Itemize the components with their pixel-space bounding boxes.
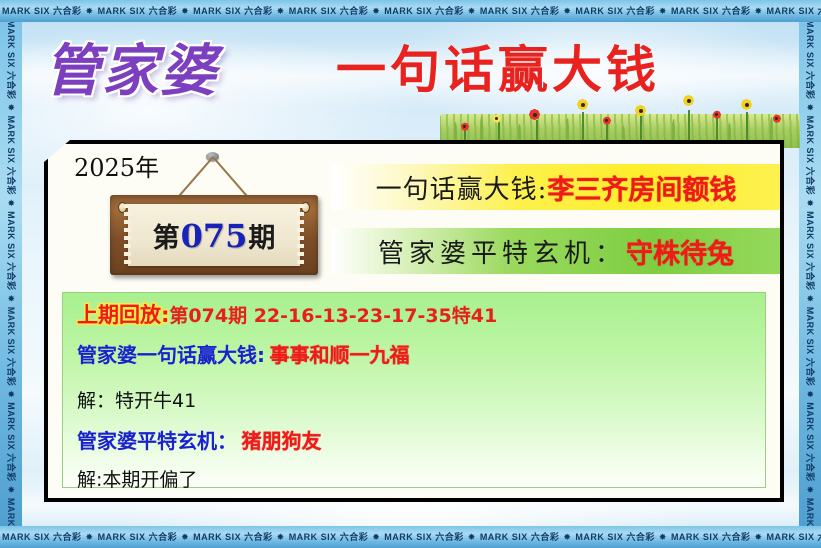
flower-icon — [602, 116, 611, 125]
issue-number: 第075期 — [153, 216, 276, 255]
band-green-answer: 守株待兔 — [626, 232, 734, 271]
hanging-sign: 第075期 — [106, 152, 322, 282]
explain-row-2: 解:本期开偏了 — [77, 471, 751, 490]
replay-numbers: 22-16-13-23-17-35 — [254, 305, 452, 327]
flower-icon — [740, 98, 753, 111]
marquee-run-right: MARK SIX 六合彩✸MARK SIX 六合彩✸MARK SIX 六合彩✸M… — [799, 22, 821, 526]
issue-prefix: 第 — [153, 223, 180, 254]
flower-icon — [772, 114, 781, 123]
marquee-run-bottom: MARK SIX 六合彩✸MARK SIX 六合彩✸MARK SIX 六合彩✸M… — [0, 526, 821, 548]
band-green-label: 管家婆平特玄机： — [378, 233, 626, 270]
phrase-row: 管家婆一句话赢大钱: 事事和顺一九福 — [77, 345, 751, 366]
band-yellow: 一句话赢大钱:李三齐房间额钱 — [332, 164, 780, 210]
phrase-label: 管家婆一句话赢大钱: — [77, 343, 265, 367]
explain-text-2: 解:本期开偏了 — [77, 469, 197, 491]
replay-spacer — [247, 305, 254, 327]
band-yellow-label: 一句话赢大钱: — [376, 169, 548, 206]
band-green: 管家婆平特玄机：守株待兔 — [332, 228, 780, 274]
replay-label: 上期回放: — [77, 303, 169, 327]
flower-icon — [528, 108, 541, 121]
poster-canvas: MARK SIX 六合彩✸MARK SIX 六合彩✸MARK SIX 六合彩✸M… — [0, 0, 821, 548]
issue-value: 075 — [180, 217, 249, 255]
marquee-run-left: MARK SIX 六合彩✸MARK SIX 六合彩✸MARK SIX 六合彩✸M… — [0, 22, 22, 526]
sign-paper: 第075期 — [128, 204, 300, 266]
card-top-section: 2025年 第075期 一句话赢大钱:李三齐房间额钱 — [48, 144, 780, 286]
issue-suffix: 期 — [248, 223, 275, 254]
flower-icon — [682, 94, 695, 107]
xuanji-row: 管家婆平特玄机： 猪朋狗友 — [77, 431, 751, 452]
flower-icon — [460, 122, 469, 131]
flower-icon — [492, 114, 501, 123]
marquee-border-right: MARK SIX 六合彩✸MARK SIX 六合彩✸MARK SIX 六合彩✸M… — [799, 22, 821, 526]
xuanji-answer: 猪朋狗友 — [241, 429, 321, 453]
grass-flowers-icon — [440, 88, 800, 148]
replay-issue: 第074期 — [169, 305, 247, 327]
xuanji-label: 管家婆平特玄机： — [77, 429, 237, 453]
replay-row: 上期回放:第074期 22-16-13-23-17-35特41 — [77, 305, 751, 326]
sign-board: 第075期 — [110, 195, 318, 275]
main-card: 2025年 第075期 一句话赢大钱:李三齐房间额钱 — [44, 140, 784, 502]
explain-text-1: 解：特开牛41 — [77, 390, 196, 412]
explain-row-1: 解：特开牛41 — [77, 392, 751, 411]
marquee-border-left: MARK SIX 六合彩✸MARK SIX 六合彩✸MARK SIX 六合彩✸M… — [0, 22, 22, 526]
info-panel: 上期回放:第074期 22-16-13-23-17-35特41 管家婆一句话赢大… — [62, 292, 766, 488]
flower-icon — [576, 98, 589, 111]
phrase-answer: 事事和顺一九福 — [269, 343, 409, 367]
flower-icon — [634, 104, 647, 117]
flower-icon — [712, 110, 721, 119]
replay-special: 41 — [471, 305, 497, 327]
marquee-border-bottom: MARK SIX 六合彩✸MARK SIX 六合彩✸MARK SIX 六合彩✸M… — [0, 526, 821, 548]
band-yellow-answer: 李三齐房间额钱 — [547, 168, 736, 207]
marquee-run-top: MARK SIX 六合彩✸MARK SIX 六合彩✸MARK SIX 六合彩✸M… — [0, 0, 821, 22]
marquee-border-top: MARK SIX 六合彩✸MARK SIX 六合彩✸MARK SIX 六合彩✸M… — [0, 0, 821, 22]
replay-special-prefix: 特 — [452, 305, 471, 327]
brand-title: 管家婆 — [44, 26, 218, 107]
